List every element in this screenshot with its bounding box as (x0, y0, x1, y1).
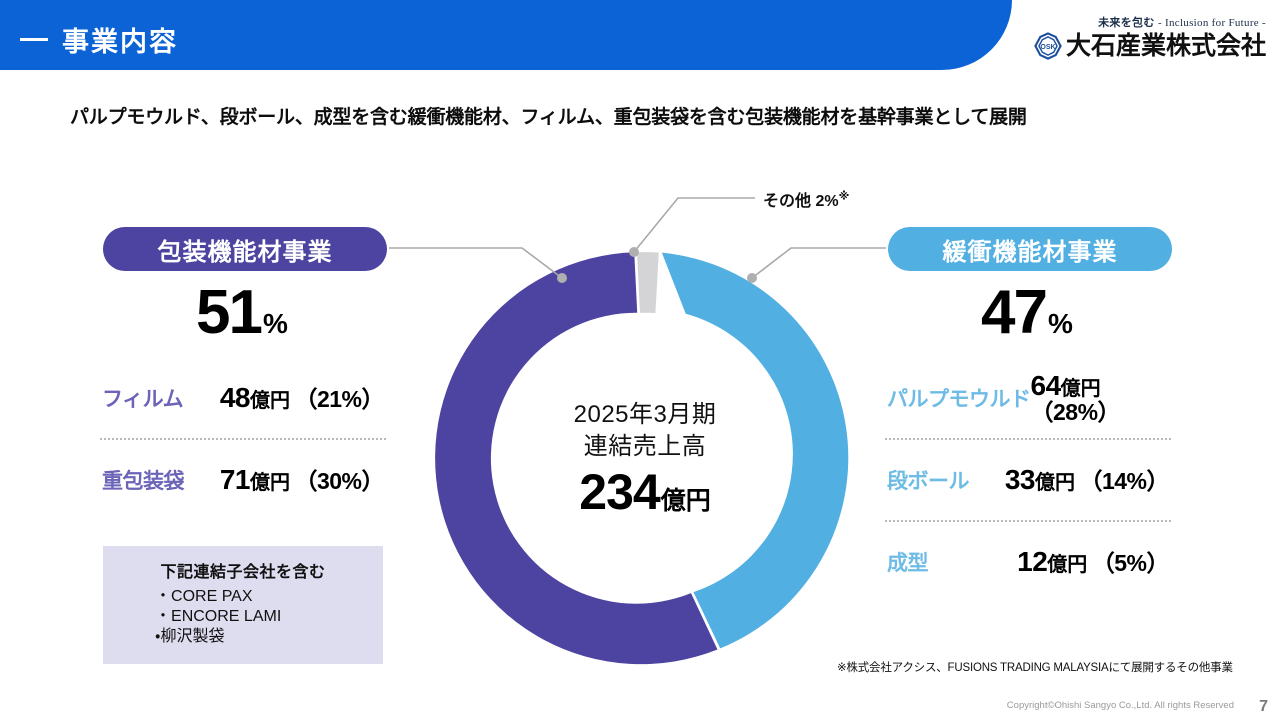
item-amount: 64 (1031, 370, 1061, 401)
logo-tagline: 未来を包む - Inclusion for Future - (1034, 14, 1266, 30)
item-unit: 億円 (250, 472, 290, 494)
item-amount: 48 (220, 382, 250, 413)
cushion-percent-value: 47 (981, 282, 1046, 344)
item-name: 重包装袋 (102, 465, 184, 495)
item-name: 段ボール (887, 465, 969, 495)
packaging-percent-value: 51 (196, 282, 261, 344)
osk-emblem-icon: OSK (1034, 32, 1062, 60)
subsidiary-note-title: 下記連結子会社を含む (103, 558, 383, 582)
logo-tagline-en: - Inclusion for Future - (1158, 17, 1266, 29)
subsidiary-item: 柳沢製袋 (155, 627, 383, 647)
list-item[interactable]: パルプモウルド 64億円 （28%） (885, 358, 1171, 438)
donut-segment-other[interactable] (637, 252, 659, 313)
list-item[interactable]: 段ボール 33億円 （14%） (885, 440, 1171, 520)
pill-cushion-label: 緩衝機能材事業 (943, 232, 1118, 267)
item-unit: 億円 (1047, 554, 1087, 576)
item-name: 成型 (887, 547, 928, 577)
list-item[interactable]: 成型 12億円 （5%） (885, 522, 1171, 602)
item-amount: 12 (1017, 546, 1047, 577)
company-name: 大石産業株式会社 (1066, 34, 1266, 59)
subsidiary-item: CORE PAX (155, 587, 383, 607)
item-share: （30%） (294, 468, 384, 494)
copyright-text: Copyright©Ohishi Sangyo Co.,Ltd. All rig… (1007, 700, 1234, 711)
list-item[interactable]: フィルム 48億円 （21%） (100, 358, 386, 438)
cushion-breakdown-list: パルプモウルド 64億円 （28%） 段ボール 33億円 （14%） 成型 12… (885, 358, 1171, 602)
item-name: パルプモウルド (887, 383, 1031, 413)
item-unit: 億円 (1035, 472, 1075, 494)
donut-segment-packaging[interactable] (435, 252, 717, 664)
item-share: （21%） (294, 386, 384, 412)
subsidiary-item: ENCORE LAMI (155, 607, 383, 627)
subsidiary-note-box: 下記連結子会社を含む CORE PAX ENCORE LAMI 柳沢製袋 (103, 546, 383, 664)
logo-tagline-jp: 未来を包む (1098, 17, 1155, 29)
page-number: 7 (1259, 698, 1268, 716)
other-footnote-marker: ※ (839, 191, 850, 203)
other-segment-callout: その他 2%※ (763, 187, 849, 211)
item-share: （14%） (1079, 468, 1169, 494)
revenue-donut-chart: 2025年3月期 連結売上高 234 億円 (430, 243, 860, 673)
cushion-percent-symbol: % (1048, 308, 1073, 340)
page-title: 事業内容 (62, 20, 178, 59)
item-amount: 33 (1005, 464, 1035, 495)
other-segment-label: その他 2% (763, 193, 839, 210)
company-logo: 未来を包む - Inclusion for Future - OSK 大石産業株… (1034, 14, 1266, 60)
item-share: （5%） (1092, 550, 1169, 576)
item-unit: 億円 (250, 390, 290, 412)
donut-segment-cushion[interactable] (662, 253, 848, 649)
packaging-percent-symbol: % (263, 308, 288, 340)
dash-icon (20, 38, 48, 41)
packaging-share-percent: 51 % (196, 282, 288, 344)
pill-packaging-label: 包装機能材事業 (158, 232, 333, 267)
item-amount: 71 (220, 464, 250, 495)
item-name: フィルム (102, 383, 183, 413)
item-share: （28%） (1031, 399, 1121, 425)
pill-cushion-business[interactable]: 緩衝機能材事業 (888, 227, 1172, 271)
svg-text:OSK: OSK (1040, 44, 1055, 51)
packaging-breakdown-list: フィルム 48億円 （21%） 重包装袋 71億円 （30%） (100, 358, 386, 520)
footnote-text: ※株式会社アクシス、FUSIONS TRADING MALAYSIAにて展開する… (837, 659, 1233, 675)
pill-packaging-business[interactable]: 包装機能材事業 (103, 227, 387, 271)
business-summary-text: パルプモウルド、段ボール、成型を含む緩衝機能材、フィルム、重包装袋を含む包装機能… (70, 102, 1027, 129)
cushion-share-percent: 47 % (981, 282, 1073, 344)
list-item[interactable]: 重包装袋 71億円 （30%） (100, 440, 386, 520)
item-unit: 億円 (1061, 378, 1101, 400)
header-bar: 事業内容 (0, 0, 1012, 70)
